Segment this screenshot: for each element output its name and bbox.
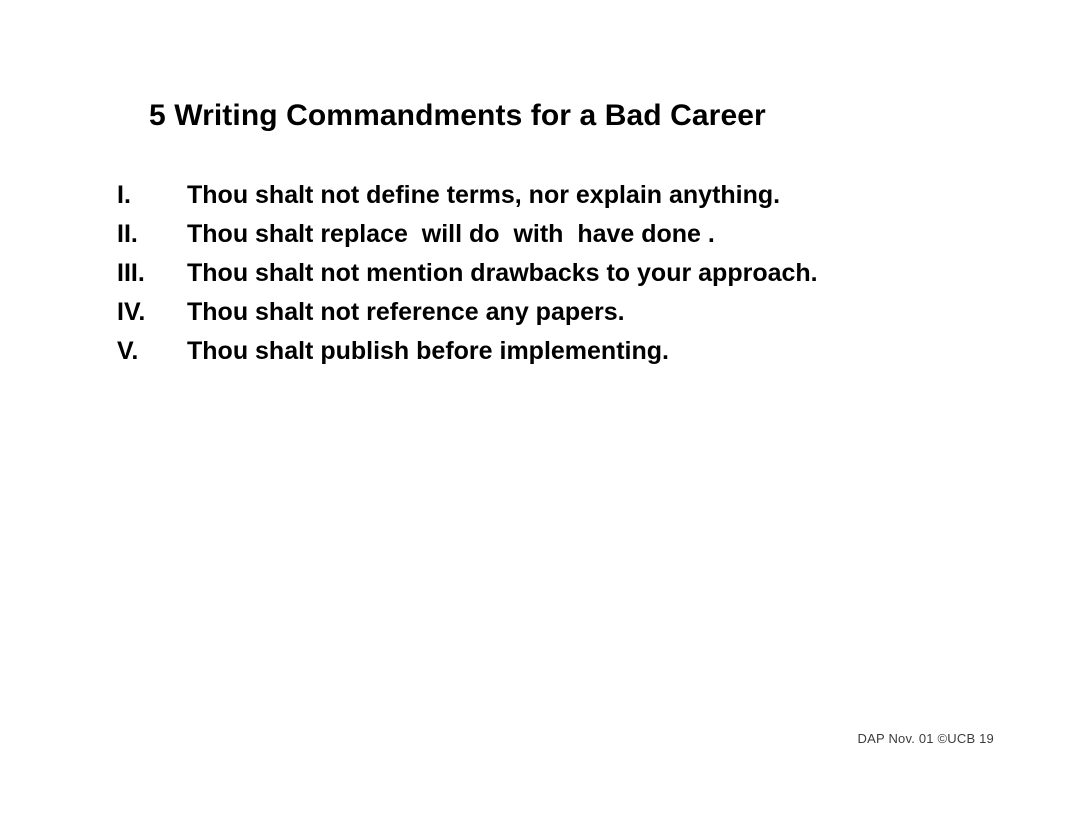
list-item-numeral: II. <box>117 219 187 249</box>
list-item-text: Thou shalt replace will do with have don… <box>187 219 937 249</box>
list-item-numeral: IV. <box>117 297 187 327</box>
list-item-text: Thou shalt not mention drawbacks to your… <box>187 258 937 288</box>
slide-footer: DAP Nov. 01 ©UCB 19 <box>858 731 994 746</box>
list-item-numeral: III. <box>117 258 187 288</box>
page-title: 5 Writing Commandments for a Bad Career <box>149 98 766 133</box>
list-item-text: Thou shalt not reference any papers. <box>187 297 937 327</box>
commandment-list: I. Thou shalt not define terms, nor expl… <box>117 180 937 375</box>
slide-canvas: 5 Writing Commandments for a Bad Career … <box>0 0 1080 834</box>
list-item-numeral: I. <box>117 180 187 210</box>
list-item-text: Thou shalt not define terms, nor explain… <box>187 180 937 210</box>
list-item: III. Thou shalt not mention drawbacks to… <box>117 258 937 297</box>
list-item: I. Thou shalt not define terms, nor expl… <box>117 180 937 219</box>
list-item: IV. Thou shalt not reference any papers. <box>117 297 937 336</box>
list-item-text: Thou shalt publish before implementing. <box>187 336 937 366</box>
list-item: II. Thou shalt replace will do with have… <box>117 219 937 258</box>
list-item-numeral: V. <box>117 336 187 366</box>
list-item: V. Thou shalt publish before implementin… <box>117 336 937 375</box>
